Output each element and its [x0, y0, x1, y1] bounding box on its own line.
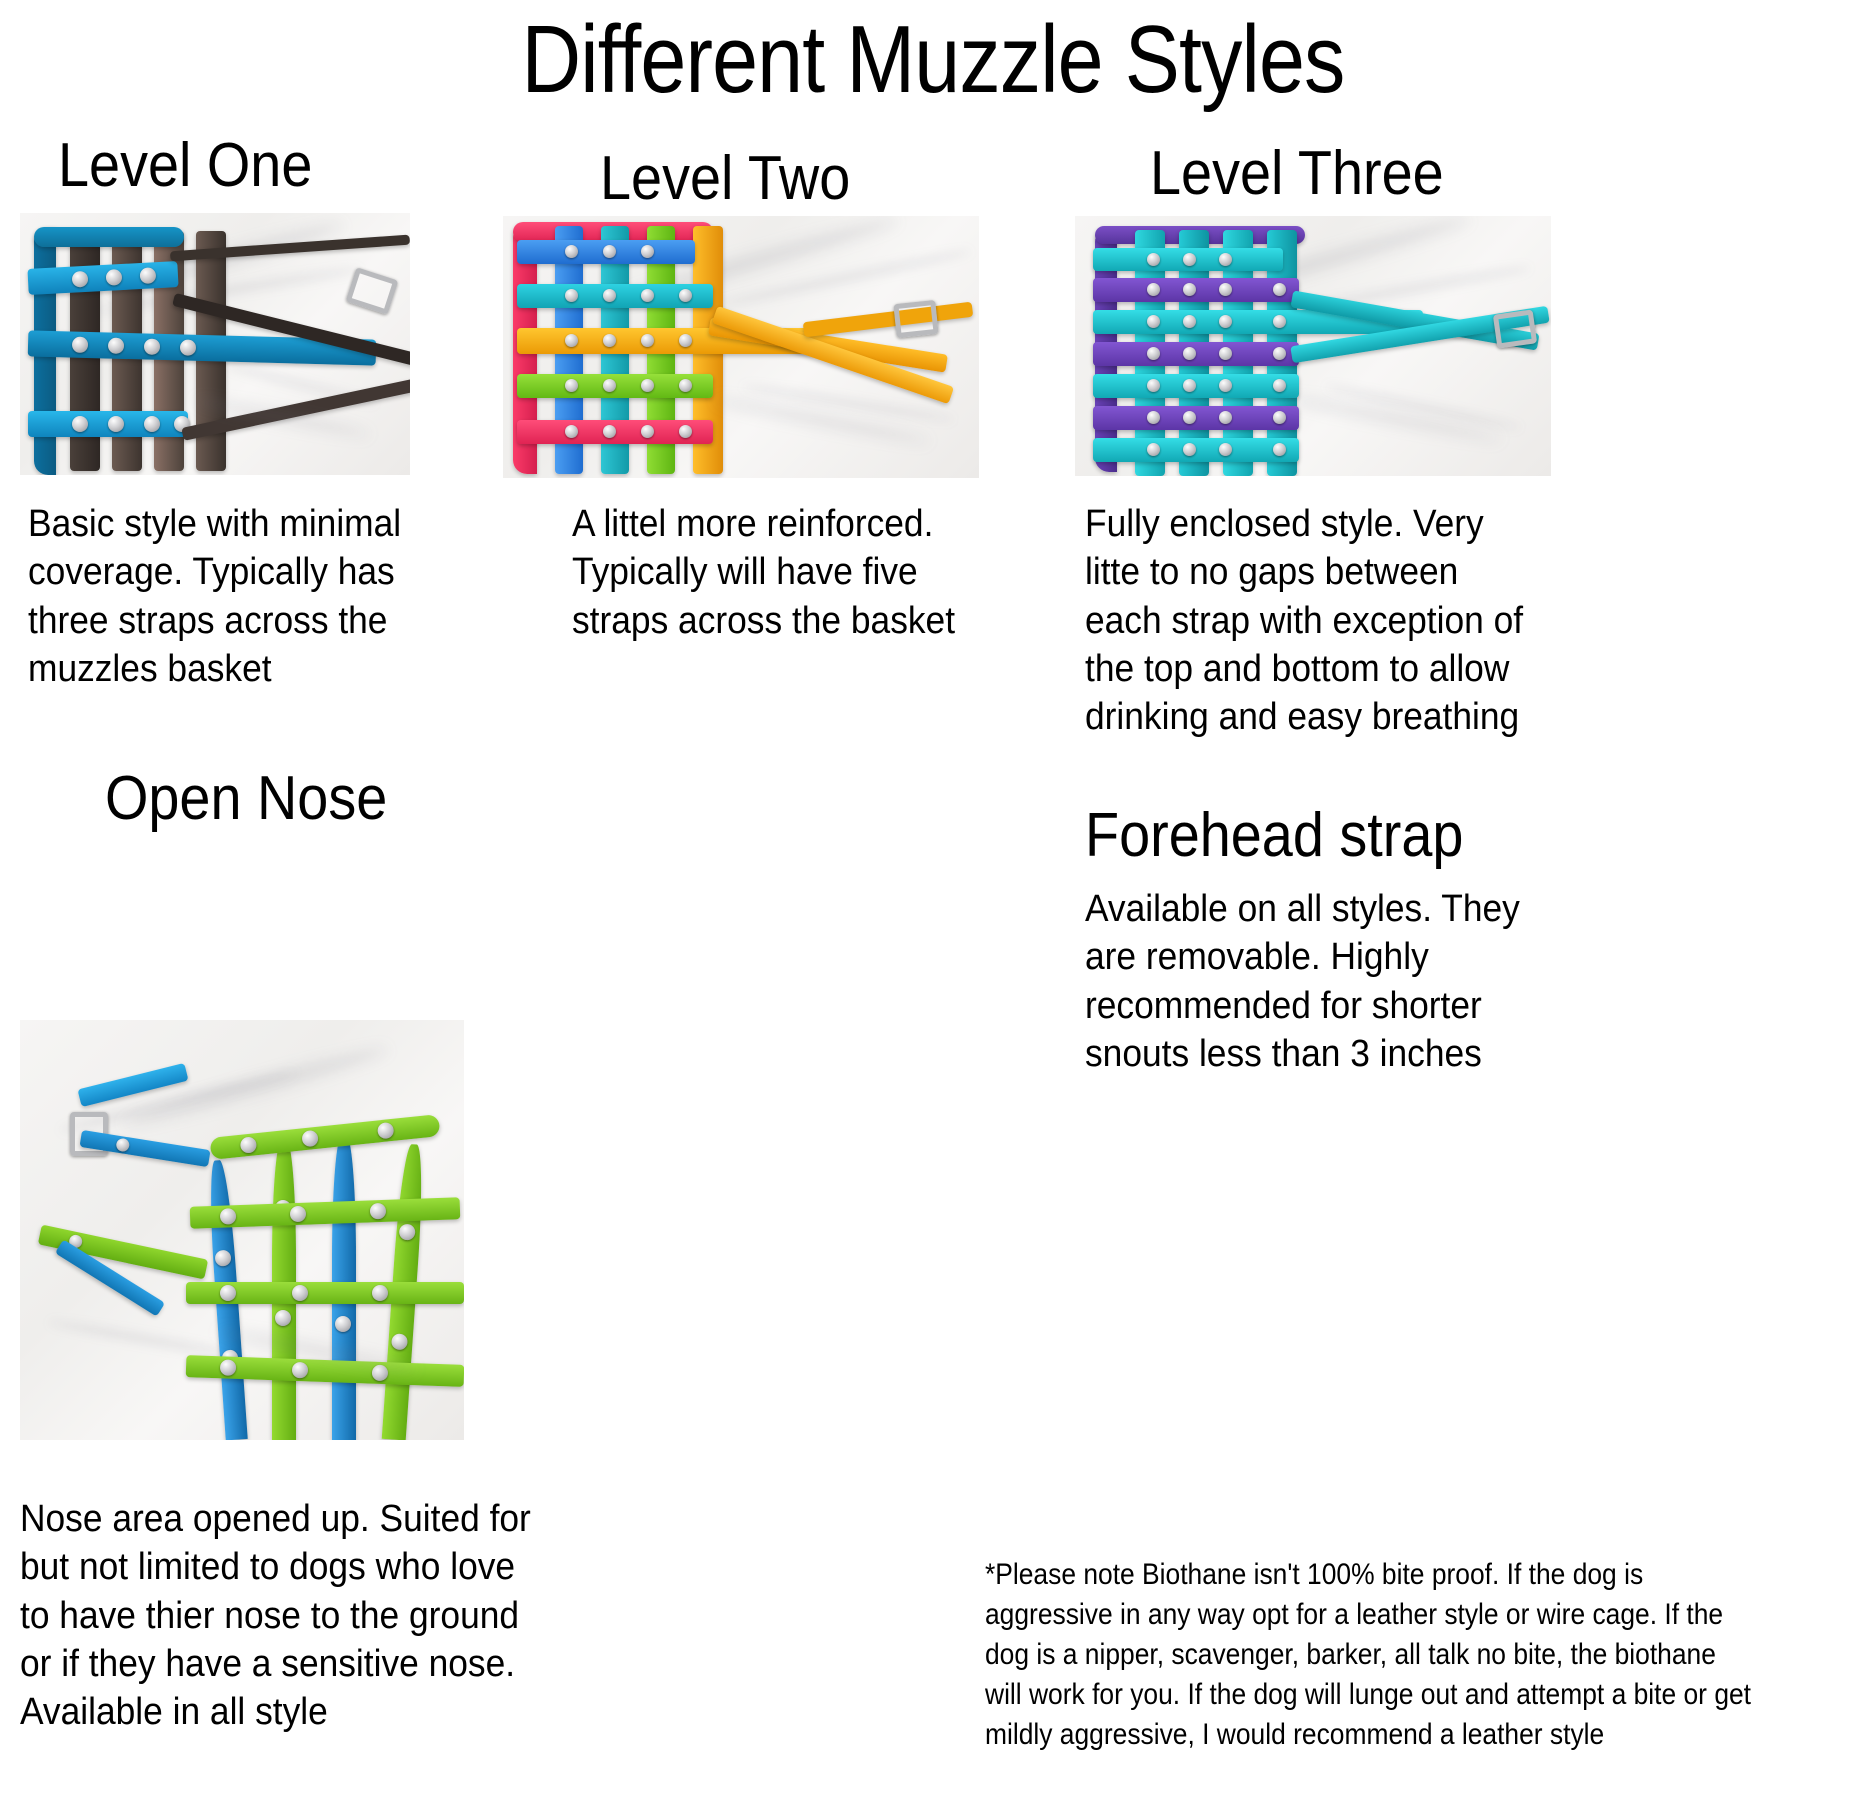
body-forehead-strap: Available on all styles. They are remova… [1085, 885, 1522, 1078]
disclaimer-note: *Please note Biothane isn't 100% bite pr… [985, 1555, 1755, 1754]
heading-level-one: Level One [58, 135, 312, 197]
body-level-two: A littel more reinforced. Typically will… [572, 500, 963, 645]
photo-open-nose [20, 1020, 464, 1440]
body-open-nose: Nose area opened up. Suited for but not … [20, 1495, 541, 1736]
photo-level-one [20, 213, 410, 475]
body-level-three: Fully enclosed style. Very litte to no g… [1085, 500, 1531, 741]
heading-open-nose: Open Nose [105, 768, 387, 830]
heading-level-two: Level Two [600, 148, 850, 210]
heading-forehead-strap: Forehead strap [1085, 805, 1463, 867]
photo-level-two [503, 216, 979, 478]
heading-level-three: Level Three [1150, 143, 1444, 205]
photo-level-three [1075, 216, 1551, 476]
page-title: Different Muzzle Styles [131, 8, 1736, 112]
body-level-one: Basic style with minimal coverage. Typic… [28, 500, 428, 693]
